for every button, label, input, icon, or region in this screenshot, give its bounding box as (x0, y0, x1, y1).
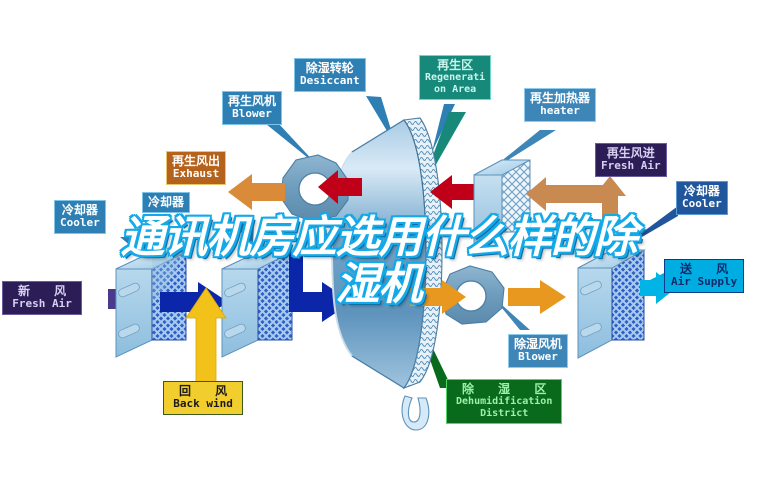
label-cooler-right-en: Cooler (682, 198, 722, 211)
drain-pan (402, 396, 429, 430)
label-dehumid-district-en2: District (452, 408, 556, 420)
cooler-coil-3 (578, 250, 644, 358)
label-dehumid-blower[interactable]: 除湿风机 Blower (508, 334, 568, 368)
label-air-supply-cn: 送 风 (670, 262, 738, 276)
label-fresh-air-inlet-cn: 新 风 (8, 284, 76, 298)
heater-coil (474, 160, 530, 248)
label-regen-heater[interactable]: 再生加热器 heater (524, 88, 596, 122)
label-dehumidification-district[interactable]: 除 湿 区 Dehumidification District (446, 379, 562, 424)
label-back-wind[interactable]: 回 风 Back wind (163, 381, 243, 415)
label-regeneration-area[interactable]: 再生区 Regenerati on Area (419, 55, 491, 100)
label-regeneration-area-en1: Regenerati (425, 72, 485, 84)
label-regen-heater-en: heater (530, 105, 590, 118)
label-fresh-air-inlet-en: Fresh Air (8, 298, 76, 311)
label-air-supply-en: Air Supply (670, 276, 738, 289)
label-cooler-left-1-cn: 冷却器 (60, 203, 100, 217)
label-regen-fresh-air-en: Fresh Air (601, 160, 661, 173)
label-desiccant-wheel[interactable]: 除湿转轮 Desiccant (294, 58, 366, 92)
label-dehumid-district-en1: Dehumidification (452, 396, 556, 408)
label-back-wind-en: Back wind (169, 398, 237, 411)
label-regen-exhaust-en: Exhaust (172, 168, 220, 181)
label-cooler-right[interactable]: 冷却器 Cooler (676, 181, 728, 215)
label-regeneration-area-en2: on Area (425, 84, 485, 96)
label-regen-fresh-air-cn: 再生风进 (601, 146, 661, 160)
label-cooler-left-1-en: Cooler (60, 217, 100, 230)
label-dehumid-blower-en: Blower (514, 351, 562, 364)
cooler-coil-2 (222, 252, 292, 357)
label-regen-blower[interactable]: 再生风机 Blower (222, 91, 282, 125)
regen-inlet-arrow (526, 176, 626, 228)
diagram-canvas: 除湿转轮 Desiccant 再生风机 Blower 再生风出 Exhaust … (0, 0, 757, 488)
dehumidifier-schematic (0, 0, 757, 488)
label-back-wind-cn: 回 风 (169, 384, 237, 398)
label-regen-exhaust-cn: 再生风出 (172, 154, 220, 168)
label-cooler-left-1[interactable]: 冷却器 Cooler (54, 200, 106, 234)
label-regen-blower-cn: 再生风机 (228, 94, 276, 108)
label-regen-heater-cn: 再生加热器 (530, 91, 590, 105)
label-cooler-left-2-cn: 冷却器 (148, 195, 184, 209)
label-air-supply[interactable]: 送 风 Air Supply (664, 259, 744, 293)
label-dehumid-district-cn: 除 湿 区 (452, 382, 556, 396)
label-regeneration-area-cn: 再生区 (425, 58, 485, 72)
label-cooler-right-cn: 冷却器 (682, 184, 722, 198)
dehumid-arrow-2 (508, 280, 566, 314)
label-regen-blower-en: Blower (228, 108, 276, 121)
label-fresh-air-inlet[interactable]: 新 风 Fresh Air (2, 281, 82, 315)
exhaust-arrow (228, 174, 285, 210)
label-regen-fresh-air[interactable]: 再生风进 Fresh Air (595, 143, 667, 177)
label-regen-exhaust[interactable]: 再生风出 Exhaust (166, 151, 226, 185)
desiccant-rotor (332, 118, 442, 388)
process-downspout (289, 252, 303, 292)
label-cooler-left-2[interactable]: 冷却器 (142, 192, 190, 213)
label-desiccant-wheel-en: Desiccant (300, 75, 360, 88)
label-desiccant-wheel-cn: 除湿转轮 (300, 61, 360, 75)
label-dehumid-blower-cn: 除湿风机 (514, 337, 562, 351)
